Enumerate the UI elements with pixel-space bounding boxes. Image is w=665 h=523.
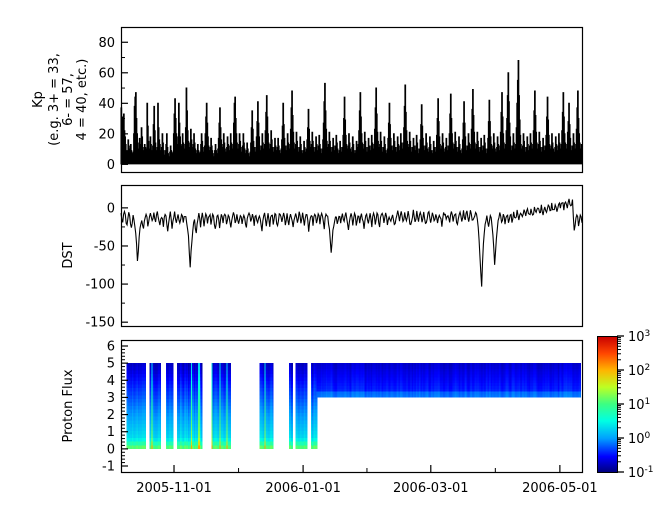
dst-ylabel: DST: [61, 242, 76, 268]
proton-flux-axis-tick-label: -1: [102, 460, 115, 475]
xaxis-tick-label: 2005-11-01: [136, 481, 212, 496]
kp-axis-tick-label: 80: [98, 36, 115, 51]
proton-flux-axis-tick-label: 0: [107, 442, 115, 457]
proton-flux-axis-tick-label: 6: [107, 340, 115, 355]
proton-flux-ylabel: Proton Flux: [61, 369, 76, 442]
colorbar-tick-label: 102: [628, 363, 650, 379]
xaxis-tick-label: 2006-01-01: [265, 481, 341, 496]
kp-axis-tick-label: 0: [107, 158, 115, 173]
dst-axis-tick-label: 0: [107, 201, 115, 216]
proton-flux-axis-tick-label: 1: [107, 425, 115, 440]
space-weather-figure: 020406080Kp(e.g. 3+ = 33,6- = 57,4 = 40,…: [0, 0, 665, 523]
kp-ylabel-line-2: 6- = 57,: [61, 73, 76, 126]
colorbar-tick-label: 101: [628, 397, 650, 413]
kp-axis-tick-label: 40: [98, 97, 115, 112]
proton-flux-colorbar: [597, 336, 617, 473]
kp-axis-tick-label: 60: [98, 66, 115, 81]
dst-axis-tick-label: -150: [85, 316, 115, 331]
xaxis-tick-label: 2006-03-01: [393, 481, 469, 496]
xaxis-tick-label: 2006-05-01: [522, 481, 598, 496]
colorbar-tick-label: 10-1: [628, 465, 654, 481]
kp-ylabel-line-1: (e.g. 3+ = 33,: [47, 53, 62, 146]
proton-flux-spectrogram: [127, 363, 583, 449]
proton-flux-axis-tick-label: 2: [107, 408, 115, 423]
proton-flux-axis-tick-label: 5: [107, 357, 115, 372]
proton-flux-axis-tick-label: 4: [107, 374, 115, 389]
dst-axis-tick-label: -100: [85, 278, 115, 293]
dst-axis-tick-label: -50: [94, 239, 115, 254]
kp-ylabel-line-0: Kp: [31, 91, 46, 108]
colorbar-tick-label: 103: [628, 329, 650, 345]
kp-ylabel-line-3: 4 = 40, etc.): [75, 59, 90, 141]
proton-flux-axis-tick-label: 3: [107, 391, 115, 406]
colorbar-tick-label: 100: [628, 431, 651, 447]
kp-axis-tick-label: 20: [98, 127, 115, 142]
dst-series-line: [121, 199, 582, 287]
kp-series-line: [121, 61, 582, 165]
